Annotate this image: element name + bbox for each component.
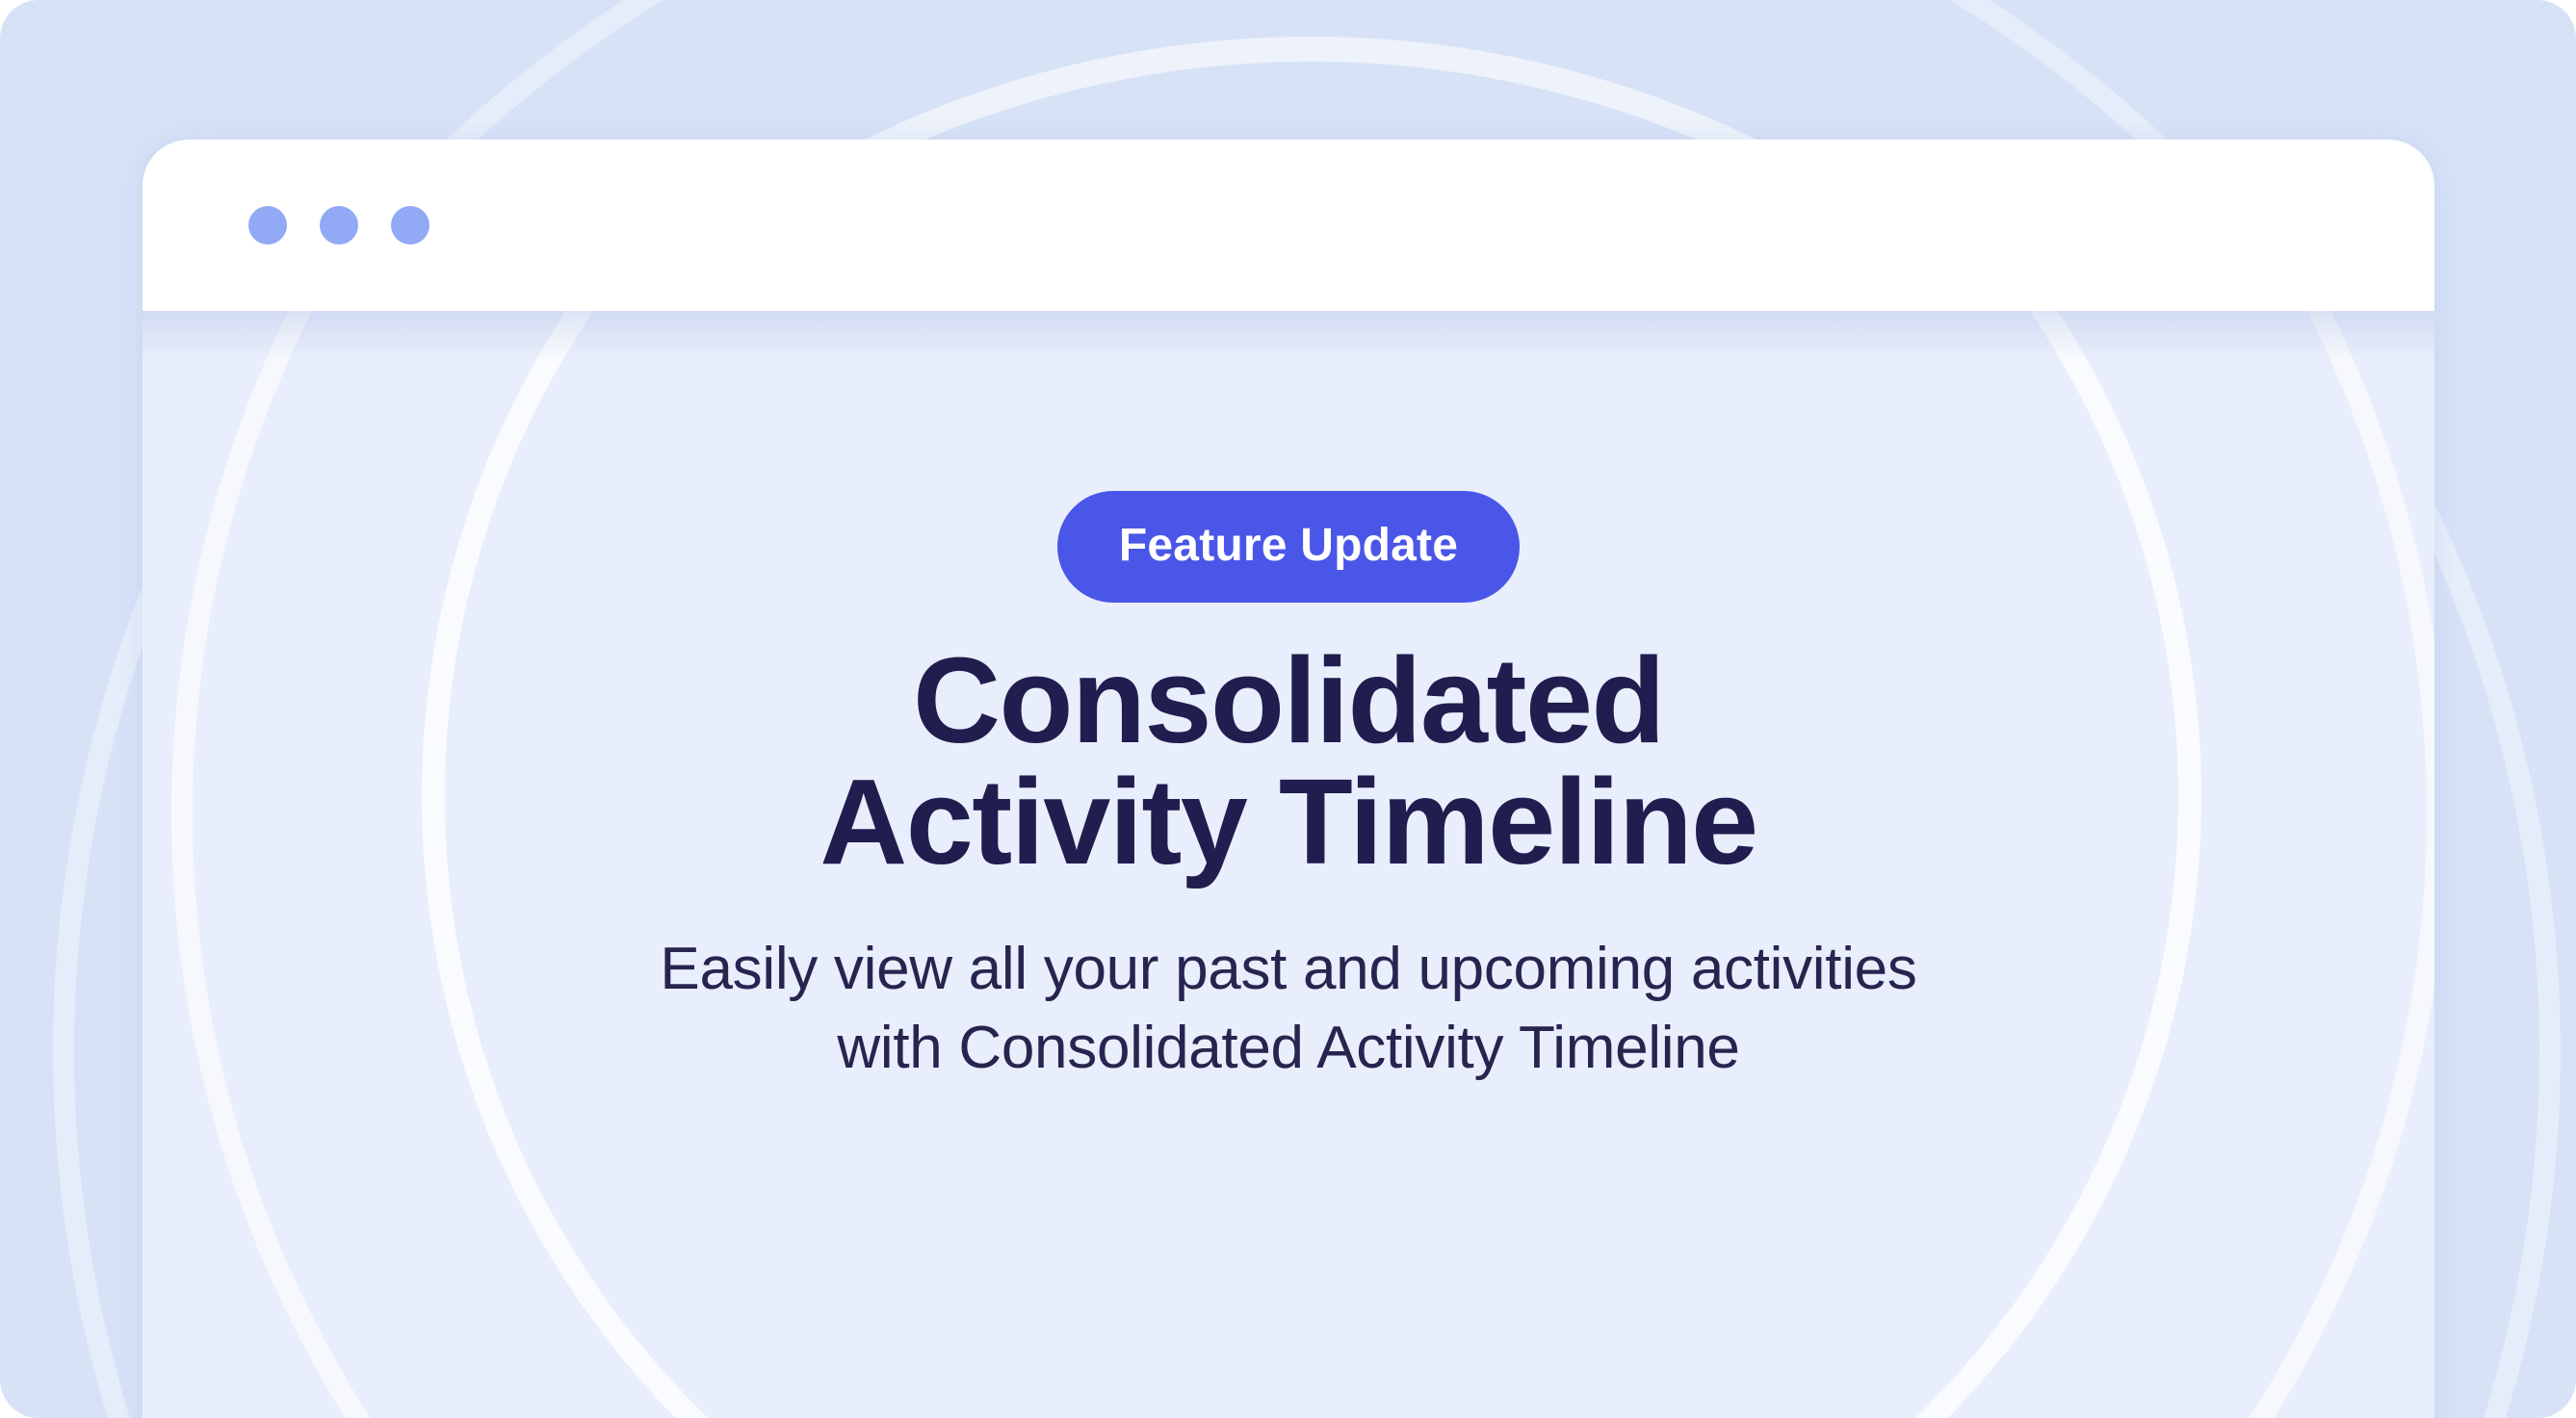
window-controls [248,206,429,245]
browser-title-bar [143,140,2434,311]
page-title: Consolidated Activity Timeline [143,640,2434,883]
page-subtitle-line-1: Easily view all your past and upcoming a… [143,930,2434,1009]
browser-window-body: Feature Update Consolidated Activity Tim… [143,311,2434,1418]
minimize-window-dot-icon[interactable] [320,206,358,245]
page-subtitle-line-2: with Consolidated Activity Timeline [143,1009,2434,1088]
page-title-line-2: Activity Timeline [143,761,2434,883]
feature-update-badge: Feature Update [1057,491,1520,603]
close-window-dot-icon[interactable] [248,206,287,245]
maximize-window-dot-icon[interactable] [391,206,429,245]
hero-section: Feature Update Consolidated Activity Tim… [143,311,2434,1088]
promo-frame: Feature Update Consolidated Activity Tim… [0,0,2576,1418]
browser-window-mockup: Feature Update Consolidated Activity Tim… [143,140,2434,1418]
page-title-line-1: Consolidated [143,640,2434,761]
page-subtitle: Easily view all your past and upcoming a… [143,930,2434,1088]
